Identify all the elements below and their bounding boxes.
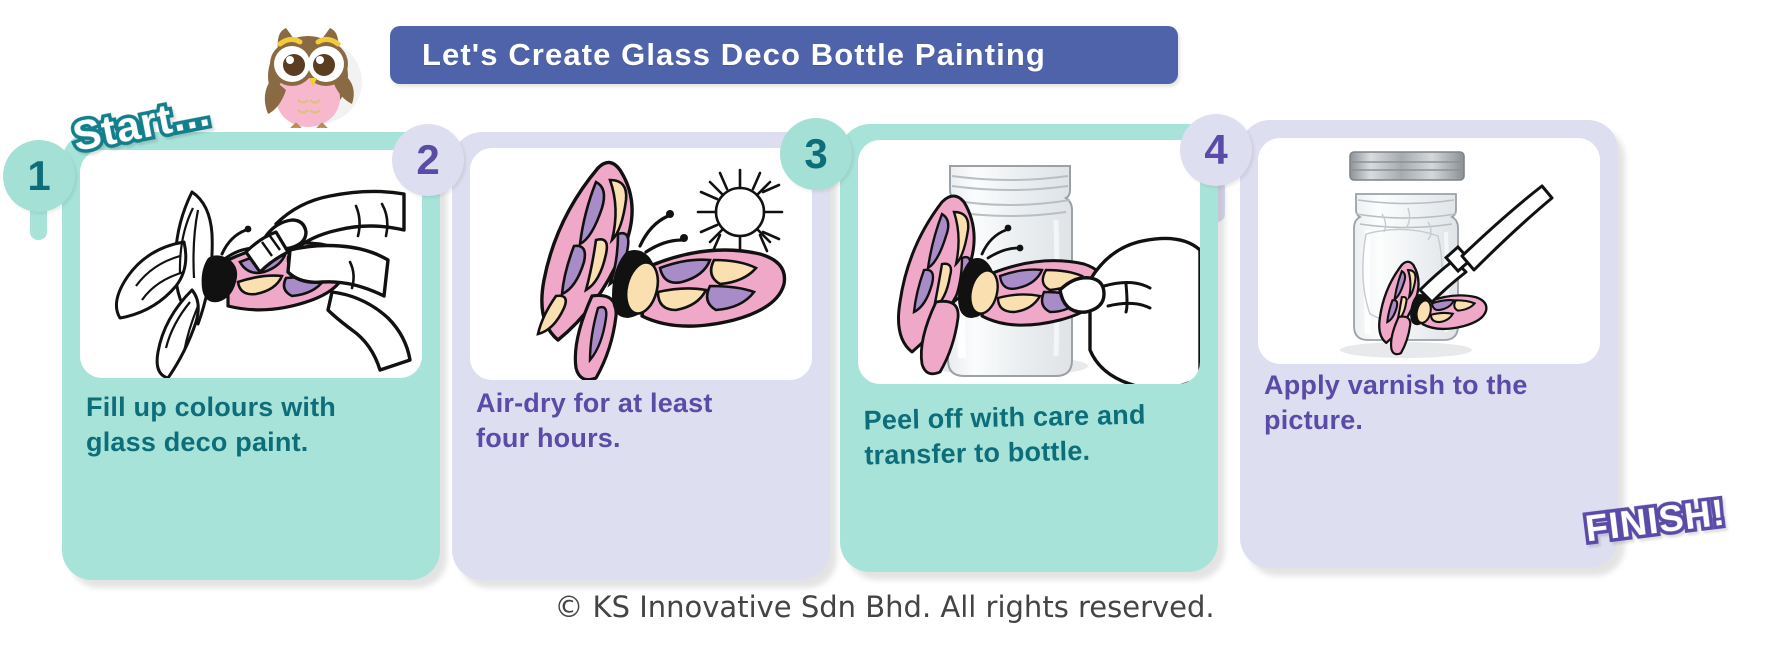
step-1-caption: Fill up colours with glass deco paint. (86, 390, 416, 459)
step-2-illustration (470, 148, 812, 380)
step-card-4[interactable]: Apply varnish to the picture. (1240, 120, 1618, 568)
title-banner: Let's Create Glass Deco Bottle Painting (390, 26, 1178, 84)
step-4-illustration (1258, 138, 1600, 364)
step-card-3[interactable]: Peel off with care and transfer to bottl… (840, 124, 1218, 572)
step-4-caption: Apply varnish to the picture. (1264, 368, 1594, 437)
owl-mascot-icon (252, 16, 370, 128)
step-3-illustration (858, 140, 1200, 384)
step-card-1[interactable]: Fill up colours with glass deco paint. (62, 132, 440, 580)
step-1-number-badge[interactable]: 1 (3, 140, 75, 212)
steps-container: Fill up colours with glass deco paint. (0, 118, 1769, 580)
step-3-number-badge[interactable]: 3 (780, 118, 852, 190)
page-title: Let's Create Glass Deco Bottle Painting (390, 37, 1046, 73)
step-4-number-badge[interactable]: 4 (1180, 114, 1252, 186)
step-2-number-badge[interactable]: 2 (392, 124, 464, 196)
step-2-caption: Air-dry for at least four hours. (476, 386, 806, 455)
step-1-illustration (80, 150, 422, 378)
worksheet-page: Let's Create Glass Deco Bottle Painting (0, 0, 1769, 668)
step-card-2[interactable]: Air-dry for at least four hours. (452, 132, 830, 580)
step-3-caption: Peel off with care and transfer to bottl… (863, 397, 1194, 473)
copyright-footer: © KS Innovative Sdn Bhd. All rights rese… (0, 590, 1769, 624)
header: Let's Create Glass Deco Bottle Painting (0, 0, 1769, 118)
